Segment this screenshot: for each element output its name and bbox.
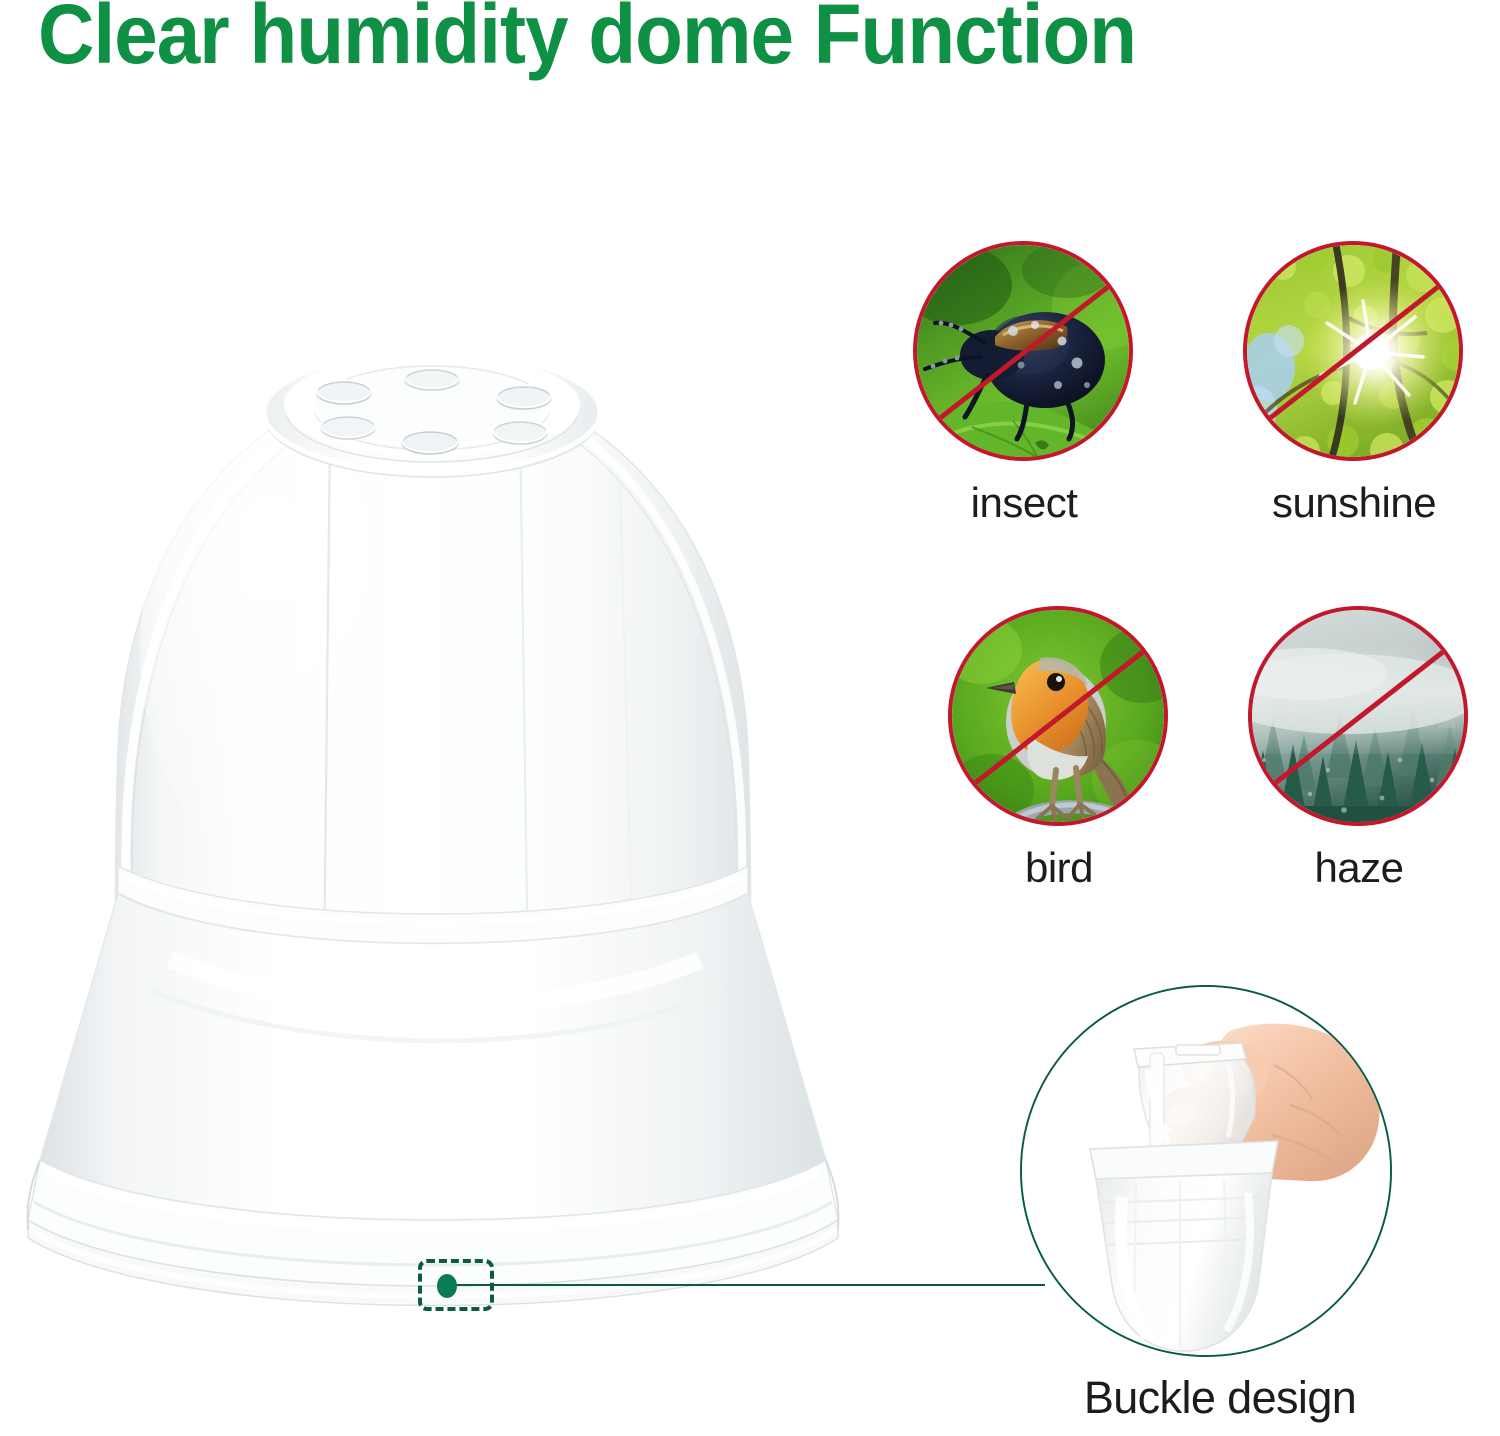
feature-bird: bird (948, 606, 1170, 892)
page-title: Clear humidity dome Function (38, 0, 1136, 76)
feature-haze-circle (1248, 606, 1468, 826)
buckle-design-label: Buckle design (1020, 1372, 1420, 1424)
buckle-design-circle (1020, 985, 1392, 1357)
callout-connector-line (455, 1284, 1045, 1286)
hand-holding-dome-photo (1022, 987, 1392, 1357)
feature-sunshine: sunshine (1243, 241, 1465, 527)
product-photo-humidity-dome (0, 230, 920, 1350)
buckle-point-marker (437, 1274, 457, 1298)
feature-bird-circle (948, 606, 1168, 826)
feature-insect: insect (913, 241, 1135, 527)
feature-sunshine-circle (1243, 241, 1463, 461)
feature-sunshine-label: sunshine (1243, 479, 1465, 527)
feature-bird-label: bird (948, 844, 1170, 892)
feature-haze: haze (1248, 606, 1470, 892)
feature-insect-label: insect (913, 479, 1135, 527)
feature-insect-circle (913, 241, 1133, 461)
feature-haze-label: haze (1248, 844, 1470, 892)
